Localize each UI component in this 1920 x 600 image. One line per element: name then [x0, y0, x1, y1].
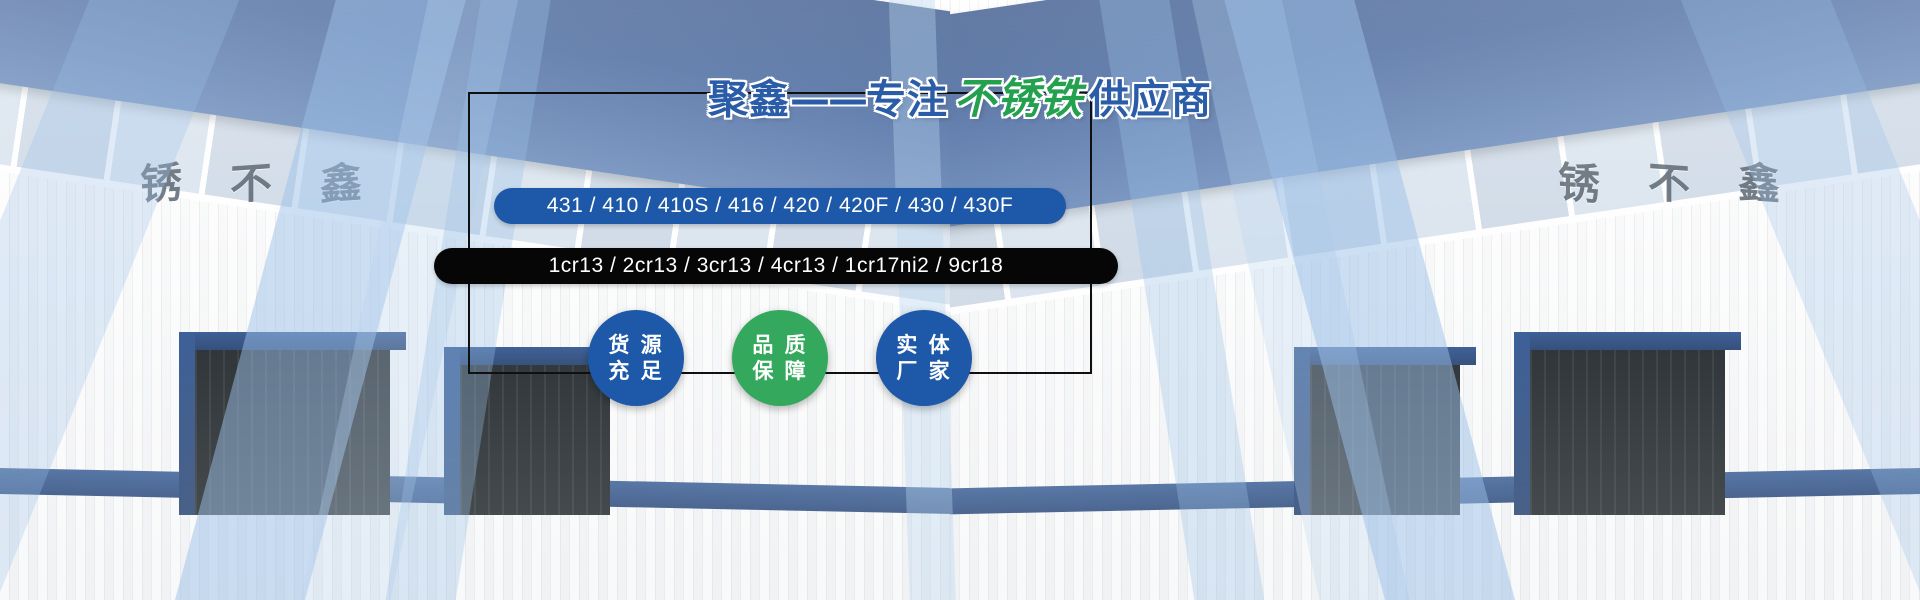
- feature-badges: 货 源 充 足 品 质 保 障 实 体 厂 家: [468, 306, 1092, 410]
- headline-dash: ——: [790, 77, 866, 123]
- headline-part2: 专注: [866, 77, 948, 123]
- badge-quality-line1: 品 质: [752, 332, 807, 358]
- grades-secondary-pill: 1cr13 / 2cr13 / 3cr13 / 4cr13 / 1cr17ni2…: [434, 248, 1118, 284]
- headline-part1: 聚鑫: [708, 77, 790, 123]
- badge-factory-line1: 实 体: [896, 332, 951, 358]
- badge-quality-line2: 保 障: [752, 358, 807, 384]
- grades-primary-pill: 431 / 410 / 410S / 416 / 420 / 420F / 43…: [494, 188, 1066, 224]
- badge-supply-line1: 货 源: [608, 332, 663, 358]
- badge-supply-line2: 充 足: [608, 358, 663, 384]
- badge-factory-line2: 厂 家: [896, 358, 951, 384]
- headline: 聚鑫——专注不锈铁供应商: [0, 76, 1920, 123]
- promo-banner: 锈 不 鑫 锈 不 鑫: [0, 0, 1920, 600]
- headline-highlight: 不锈铁: [948, 74, 1089, 123]
- badge-supply: 货 源 充 足: [588, 310, 684, 406]
- badge-quality: 品 质 保 障: [732, 310, 828, 406]
- badge-factory: 实 体 厂 家: [876, 310, 972, 406]
- headline-part3: 供应商: [1089, 77, 1212, 123]
